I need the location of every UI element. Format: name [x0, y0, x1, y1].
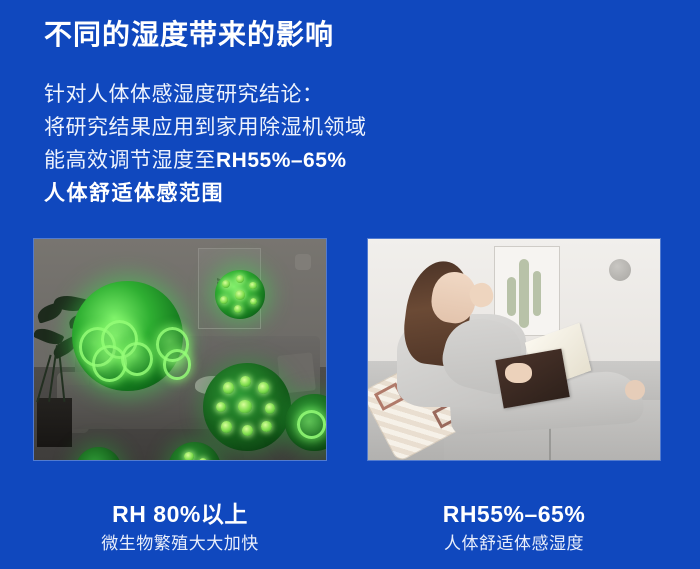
- virus-spike: [221, 421, 232, 432]
- cactus-arm: [533, 271, 541, 315]
- caption-title: RH 80%以上: [34, 500, 326, 528]
- humidity-comparison-slide: 不同的湿度带来的影响 针对人体体感湿度研究结论： 将研究结果应用到家用除湿机领域…: [0, 0, 700, 569]
- body-copy-line-3-prefix: 能高效调节湿度至: [44, 149, 216, 172]
- cactus-stem: [519, 259, 529, 328]
- virus-spike: [184, 452, 193, 460]
- germ-sphere-large: [72, 281, 183, 392]
- photo-high-humidity: [34, 239, 326, 460]
- cactus-arm: [507, 277, 515, 316]
- wall-speaker-icon: [609, 259, 631, 281]
- caption-title: RH55%–65%: [368, 500, 660, 528]
- germ-sphere-small: [215, 270, 265, 319]
- virus-spike: [216, 402, 227, 413]
- germ-ring: [121, 342, 154, 377]
- body-copy-line-3-highlight: RH55%–65%: [216, 149, 347, 172]
- virus-spike: [199, 458, 207, 460]
- body-copy-line-1: 针对人体体感湿度研究结论：: [44, 78, 464, 111]
- page-title: 不同的湿度带来的影响: [44, 18, 334, 52]
- wall-knob-icon: [295, 254, 311, 270]
- dark-room-scene: [34, 239, 326, 460]
- bright-room-scene: [368, 239, 660, 460]
- germ-ring: [297, 410, 326, 439]
- caption-high-humidity: RH 80%以上 微生物繁殖大大加快: [34, 500, 326, 555]
- body-copy-block: 针对人体体感湿度研究结论： 将研究结果应用到家用除湿机领域 能高效调节湿度至RH…: [44, 78, 464, 210]
- plant-pot: [37, 398, 72, 447]
- person-hand-holding-book: [505, 363, 531, 383]
- germ-ring: [163, 349, 191, 379]
- virus-spike: [235, 290, 245, 300]
- virus-sphere-large: [203, 363, 291, 451]
- virus-spike: [240, 376, 251, 387]
- caption-subtitle: 微生物繁殖大大加快: [34, 533, 326, 555]
- virus-spike: [242, 425, 253, 436]
- body-copy-line-3: 能高效调节湿度至RH55%–65%: [44, 144, 464, 177]
- body-copy-line-4: 人体舒适体感范围: [44, 177, 464, 210]
- caption-comfortable-humidity: RH55%–65% 人体舒适体感湿度: [368, 500, 660, 555]
- virus-spike: [261, 421, 272, 432]
- virus-spike: [222, 280, 230, 288]
- virus-spike: [236, 275, 244, 283]
- virus-spike: [223, 382, 234, 393]
- virus-spike: [234, 305, 242, 313]
- photo-comfortable-humidity: [368, 239, 660, 460]
- virus-spike: [265, 403, 276, 414]
- virus-spike: [250, 298, 257, 305]
- virus-spike: [249, 282, 257, 290]
- virus-spike: [238, 400, 251, 413]
- body-copy-line-2: 将研究结果应用到家用除湿机领域: [44, 111, 464, 144]
- virus-spike: [258, 382, 269, 393]
- caption-subtitle: 人体舒适体感湿度: [368, 533, 660, 555]
- virus-spike: [220, 296, 228, 304]
